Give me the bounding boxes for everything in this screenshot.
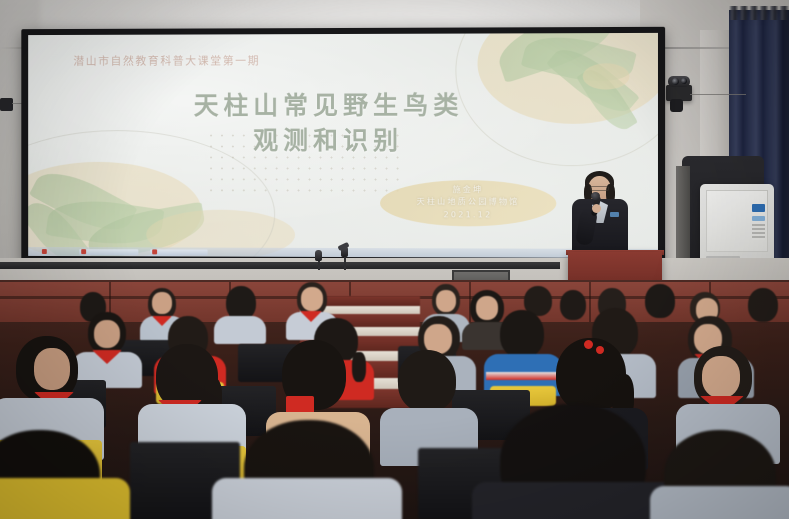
student-ponytail: [352, 352, 366, 382]
ac-display-icon: [752, 204, 765, 212]
presenter-table: [0, 262, 560, 269]
student-head: [398, 350, 456, 412]
slide-title-line-2: 观测和识别: [28, 123, 633, 158]
wall-cable: [690, 94, 746, 95]
ac-indicator-icon: [752, 216, 765, 221]
slide-title-line-1: 天柱山常见野生鸟类: [28, 88, 633, 123]
student-face: [94, 320, 120, 348]
camera-lens-icon: [672, 78, 679, 85]
microphone-stand-2: [344, 255, 346, 270]
taskbar-item-1[interactable]: [79, 249, 138, 255]
student-face: [476, 296, 498, 320]
student-face: [152, 292, 172, 314]
slide-header-text: 潜山市自然教育科普大课堂第一期: [73, 52, 260, 68]
student-jacket-stripe: [486, 372, 560, 380]
student-body: [212, 478, 402, 519]
camera-housing: [670, 99, 683, 112]
student-head: [226, 286, 256, 320]
microphone-head-1: [315, 250, 322, 261]
projection-screen-frame: 潜山市自然教育科普大课堂第一期 天柱山常见野生鸟类 观测和识别 施金坤 天柱山地…: [21, 27, 665, 265]
slide-title: 天柱山常见野生鸟类 观测和识别: [28, 88, 633, 158]
student-body: [0, 478, 130, 519]
student-face: [301, 287, 323, 311]
student-head: [560, 290, 586, 320]
taskbar-item-1-icon: [81, 249, 86, 254]
presenter-badge: [610, 212, 619, 217]
ac-vent-icon: [752, 224, 765, 240]
student-body: [472, 482, 676, 519]
lecture-hall-photo: 潜山市自然教育科普大课堂第一期 天柱山常见野生鸟类 观测和识别 施金坤 天柱山地…: [0, 0, 789, 519]
student-head: [748, 288, 778, 322]
left-wall-fixture: [0, 98, 13, 111]
presenter-hand: [592, 204, 601, 213]
student-head: [500, 310, 544, 358]
hair-tie-icon: [596, 346, 604, 354]
student-body: [650, 486, 789, 519]
student-face: [436, 290, 456, 312]
student-body: [214, 316, 266, 344]
student-head: [645, 284, 675, 318]
byline-date: 2021.12: [380, 209, 556, 222]
projection-screen: 潜山市自然教育科普大课堂第一期 天柱山常见野生鸟类 观测和识别 施金坤 天柱山地…: [28, 33, 658, 258]
student-face: [702, 356, 740, 398]
taskbar-start-icon[interactable]: [42, 249, 47, 254]
byline-presenter: 施金坤: [380, 184, 556, 197]
byline-organization: 天柱山地质公园博物馆: [380, 196, 556, 209]
slide-byline: 施金坤 天柱山地质公园博物馆 2021.12: [380, 184, 556, 222]
curtain-rings: [729, 6, 789, 20]
hair-tie-icon: [584, 340, 593, 349]
student-face: [34, 348, 70, 390]
camera-lens-secondary-icon: [681, 78, 687, 84]
presenter-glasses-icon: [590, 186, 609, 191]
taskbar-item-2[interactable]: [150, 249, 207, 255]
taskbar-item-2-icon: [152, 249, 157, 254]
ac-front-grille: [706, 190, 768, 252]
microphone-capsule-icon: [591, 192, 600, 200]
